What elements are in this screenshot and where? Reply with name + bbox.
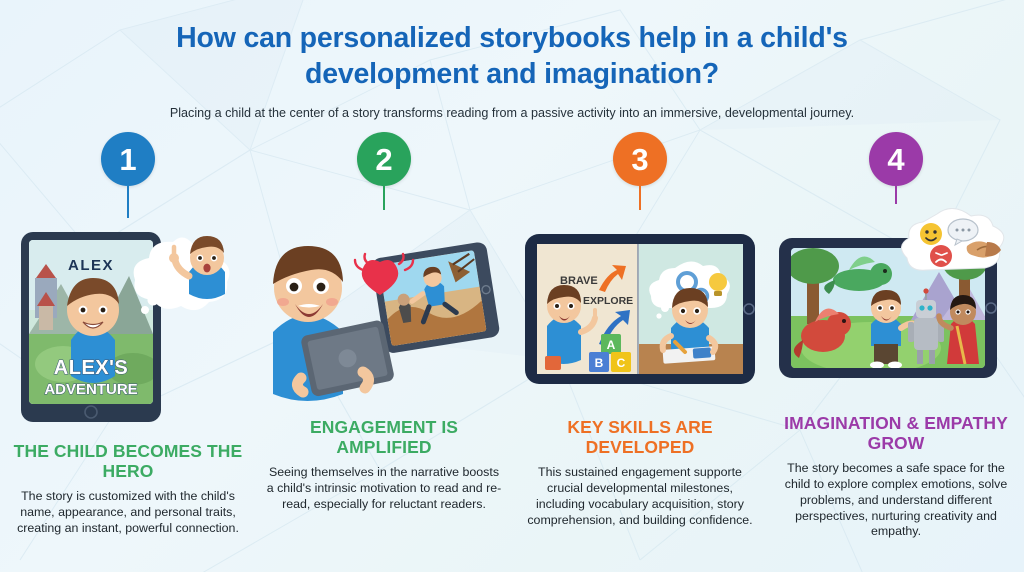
svg-text:ADVENTURE: ADVENTURE	[44, 381, 137, 398]
illustration-boy-with-tablet	[259, 216, 509, 406]
step-connector-line-3	[639, 186, 641, 210]
svg-text:ALEX'S: ALEX'S	[54, 357, 128, 379]
step-number-badge-2[interactable]: 2	[357, 132, 411, 186]
step-number-badge-3[interactable]: 3	[613, 132, 667, 186]
step-card-2: 2	[256, 132, 512, 572]
step-body-4: The story becomes a safe space for the c…	[778, 461, 1014, 540]
step-connector-line-4	[895, 186, 897, 204]
step-card-4: 4	[768, 132, 1024, 572]
step-heading-3: KEY SKILLS ARE DEVELOPED	[522, 418, 758, 458]
step-card-3: 3 BRAVE EXPLORE	[512, 132, 768, 572]
header: How can personalized storybooks help in …	[0, 20, 1024, 121]
step-heading-2: ENGAGEMENT IS AMPLIFIED	[266, 418, 502, 458]
illustration-tablet-book-cover: ALEX ALEX'S ADVENTURE	[3, 214, 253, 434]
svg-text:B: B	[595, 356, 604, 370]
step-3-caption: KEY SKILLS ARE DEVELOPED This sustained …	[518, 418, 762, 528]
step-4-badge-group: 4	[869, 132, 923, 204]
svg-text:ALEX: ALEX	[68, 257, 114, 274]
page-title: How can personalized storybooks help in …	[0, 20, 1024, 93]
svg-text:A: A	[607, 338, 616, 352]
page-subtitle: Placing a child at the center of a story…	[0, 105, 1024, 121]
svg-text:C: C	[617, 356, 626, 370]
step-body-1: The story is customized with the child's…	[10, 489, 246, 537]
step-2-caption: ENGAGEMENT IS AMPLIFIED Seeing themselve…	[262, 418, 506, 513]
step-number-badge-4[interactable]: 4	[869, 132, 923, 186]
step-1-badge-group: 1	[101, 132, 155, 218]
step-connector-line-2	[383, 186, 385, 210]
step-heading-4: IMAGINATION & EMPATHY GROW	[778, 414, 1014, 454]
step-1-caption: THE CHILD BECOMES THE HERO The story is …	[6, 442, 250, 537]
steps-row: 1	[0, 132, 1024, 572]
step-heading-1: THE CHILD BECOMES THE HERO	[10, 442, 246, 482]
step-4-caption: IMAGINATION & EMPATHY GROW The story bec…	[774, 414, 1018, 540]
illustration-split-panel-tablet: BRAVE EXPLORE	[515, 216, 765, 406]
illustration-fantasy-scene-tablet	[771, 208, 1021, 404]
svg-text:EXPLORE: EXPLORE	[583, 295, 633, 307]
step-body-2: Seeing themselves in the narrative boost…	[266, 465, 502, 513]
step-card-1: 1	[0, 132, 256, 572]
infographic-canvas: How can personalized storybooks help in …	[0, 0, 1024, 572]
step-number-badge-1[interactable]: 1	[101, 132, 155, 186]
step-body-3: This sustained engagement supporte cruci…	[522, 465, 758, 529]
step-3-badge-group: 3	[613, 132, 667, 210]
step-2-badge-group: 2	[357, 132, 411, 210]
